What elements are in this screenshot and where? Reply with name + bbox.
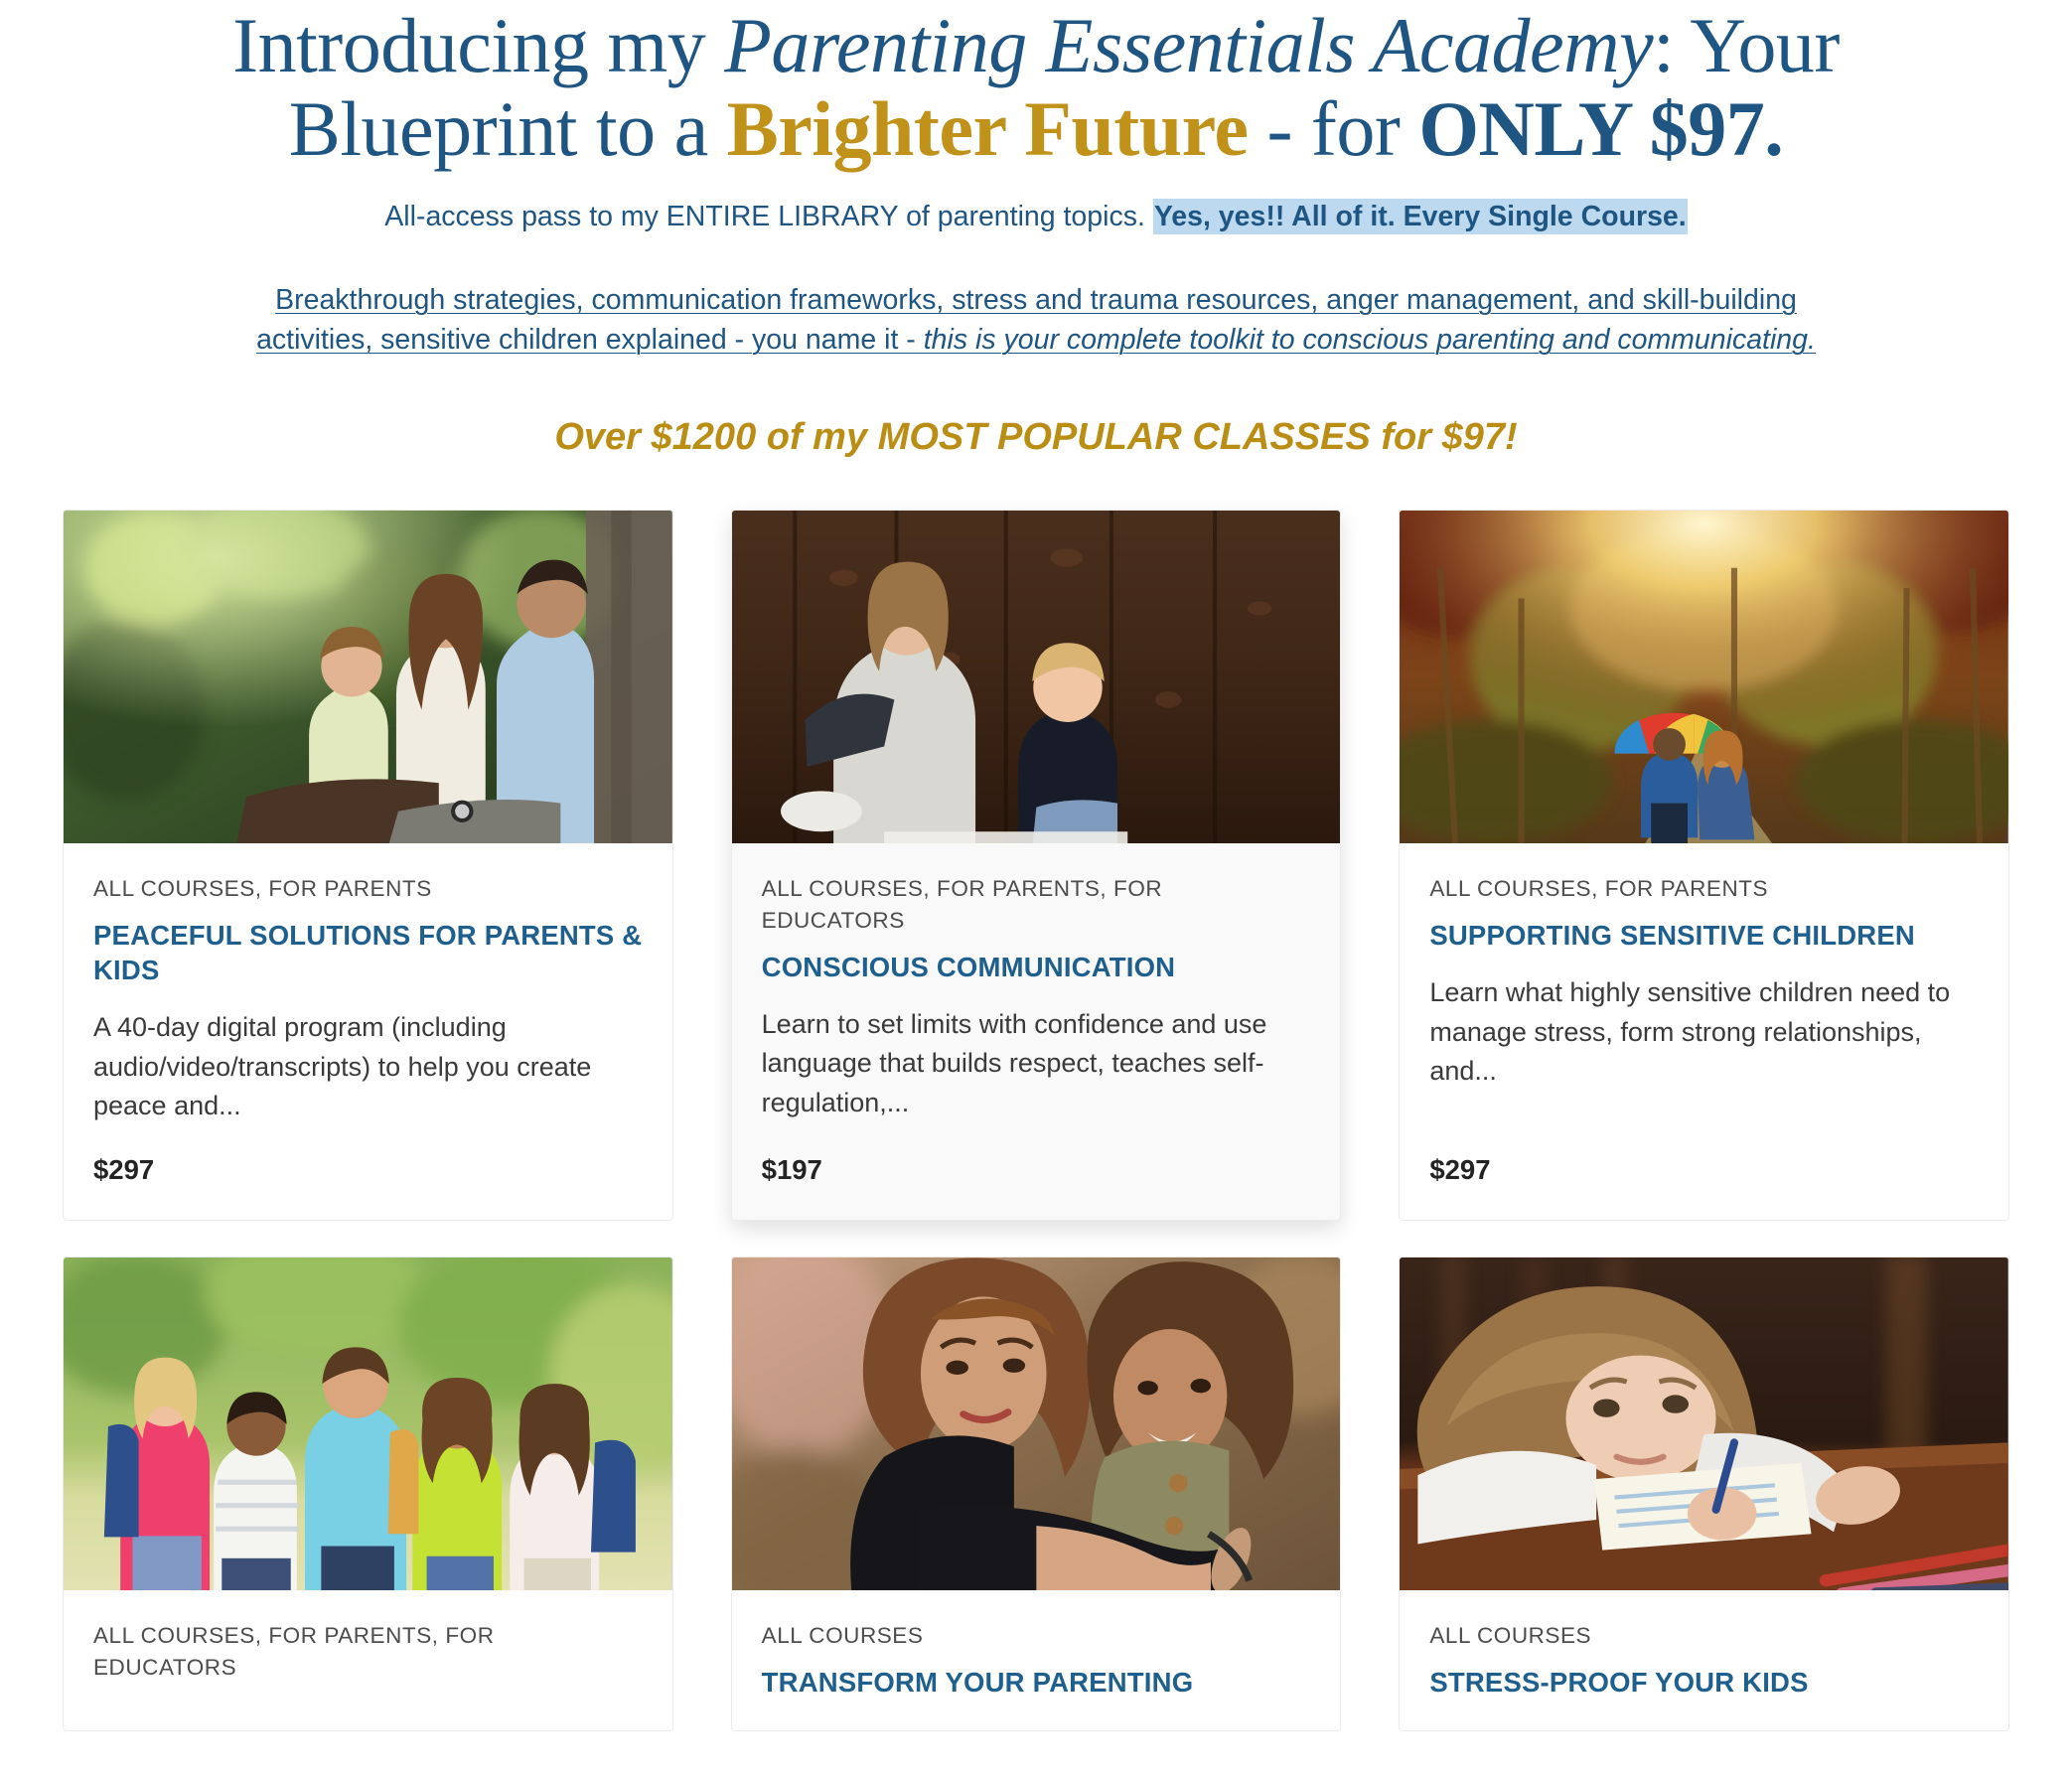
course-card-grid: ALL COURSES, FOR PARENTS PEACEFUL SOLUTI… bbox=[63, 510, 2009, 1732]
course-category: ALL COURSES, FOR PARENTS, FOR EDUCATORS bbox=[762, 873, 1311, 937]
page-title: Introducing my Parenting Essentials Acad… bbox=[149, 4, 1923, 171]
mother-and-toddler-wooden-wall-photo[interactable] bbox=[732, 511, 1341, 843]
subline-plain-text: All-access pass to my ENTIRE LIBRARY of … bbox=[384, 201, 1153, 232]
course-title[interactable]: TRANSFORM YOUR PARENTING bbox=[762, 1665, 1311, 1700]
course-card[interactable]: ALL COURSES, FOR PARENTS SUPPORTING SENS… bbox=[1399, 510, 2009, 1221]
mother-hugging-daughter-photo[interactable] bbox=[732, 1258, 1341, 1590]
course-price: $197 bbox=[762, 1154, 1311, 1186]
course-card[interactable]: ALL COURSES TRANSFORM YOUR PARENTING bbox=[731, 1257, 1342, 1731]
paragraph-italic-link[interactable]: this is your complete toolkit to conscio… bbox=[924, 324, 1816, 356]
course-card[interactable]: ALL COURSES, FOR PARENTS PEACEFUL SOLUTI… bbox=[63, 510, 673, 1221]
children-with-umbrella-in-sunlit-forest-photo[interactable] bbox=[1400, 511, 2008, 843]
course-title[interactable]: SUPPORTING SENSITIVE CHILDREN bbox=[1429, 918, 1979, 953]
headline-part-gold: Brighter Future bbox=[727, 85, 1249, 172]
course-price: $297 bbox=[93, 1154, 643, 1186]
course-category: ALL COURSES, FOR PARENTS bbox=[93, 873, 643, 905]
course-description: A 40-day digital program (including audi… bbox=[93, 1008, 643, 1126]
course-description: Learn to set limits with confidence and … bbox=[762, 1005, 1311, 1123]
value-callout: Over $1200 of my MOST POPULAR CLASSES fo… bbox=[149, 416, 1923, 459]
course-title[interactable]: PEACEFUL SOLUTIONS FOR PARENTS & KIDS bbox=[93, 918, 643, 987]
course-card-body: ALL COURSES TRANSFORM YOUR PARENTING bbox=[732, 1590, 1341, 1730]
hero-paragraph: Breakthrough strategies, communication f… bbox=[149, 280, 1923, 361]
course-title[interactable]: STRESS-PROOF YOUR KIDS bbox=[1429, 1665, 1979, 1700]
headline-part-5: - for bbox=[1248, 85, 1418, 172]
course-card[interactable]: ALL COURSES STRESS-PROOF YOUR KIDS bbox=[1399, 1257, 2009, 1731]
subline-highlighted-text: Yes, yes!! All of it. Every Single Cours… bbox=[1153, 199, 1688, 234]
course-category: ALL COURSES, FOR PARENTS, FOR EDUCATORS bbox=[93, 1620, 643, 1684]
course-description: Learn what highly sensitive children nee… bbox=[1429, 973, 1979, 1092]
course-category: ALL COURSES, FOR PARENTS bbox=[1429, 873, 1979, 905]
headline-part-italic: Parenting Essentials Academy bbox=[724, 2, 1653, 88]
course-card[interactable]: ALL COURSES, FOR PARENTS, FOR EDUCATORS … bbox=[731, 510, 1342, 1221]
five-school-kids-with-backpacks-photo[interactable] bbox=[64, 1258, 672, 1590]
headline-part-1: Introducing my bbox=[232, 2, 724, 88]
course-title[interactable]: CONSCIOUS COMMUNICATION bbox=[762, 950, 1311, 984]
course-card-body: ALL COURSES, FOR PARENTS PEACEFUL SOLUTI… bbox=[64, 843, 672, 1220]
course-card-body: ALL COURSES, FOR PARENTS, FOR EDUCATORS … bbox=[732, 843, 1341, 1220]
course-card-body: ALL COURSES, FOR PARENTS, FOR EDUCATORS bbox=[64, 1590, 672, 1730]
headline-part-price: ONLY $97. bbox=[1418, 85, 1783, 172]
hero-section: Introducing my Parenting Essentials Acad… bbox=[0, 0, 2072, 459]
landing-page: Introducing my Parenting Essentials Acad… bbox=[0, 0, 2072, 1776]
family-sitting-outdoors-photo[interactable] bbox=[64, 511, 672, 843]
course-price: $297 bbox=[1429, 1154, 1979, 1186]
course-card[interactable]: ALL COURSES, FOR PARENTS, FOR EDUCATORS bbox=[63, 1257, 673, 1731]
tired-girl-doing-homework-photo[interactable] bbox=[1400, 1258, 2008, 1590]
course-card-body: ALL COURSES STRESS-PROOF YOUR KIDS bbox=[1400, 1590, 2008, 1730]
course-card-body: ALL COURSES, FOR PARENTS SUPPORTING SENS… bbox=[1400, 843, 2008, 1220]
course-category: ALL COURSES bbox=[762, 1620, 1311, 1652]
hero-subline: All-access pass to my ENTIRE LIBRARY of … bbox=[149, 197, 1923, 237]
course-category: ALL COURSES bbox=[1429, 1620, 1979, 1652]
